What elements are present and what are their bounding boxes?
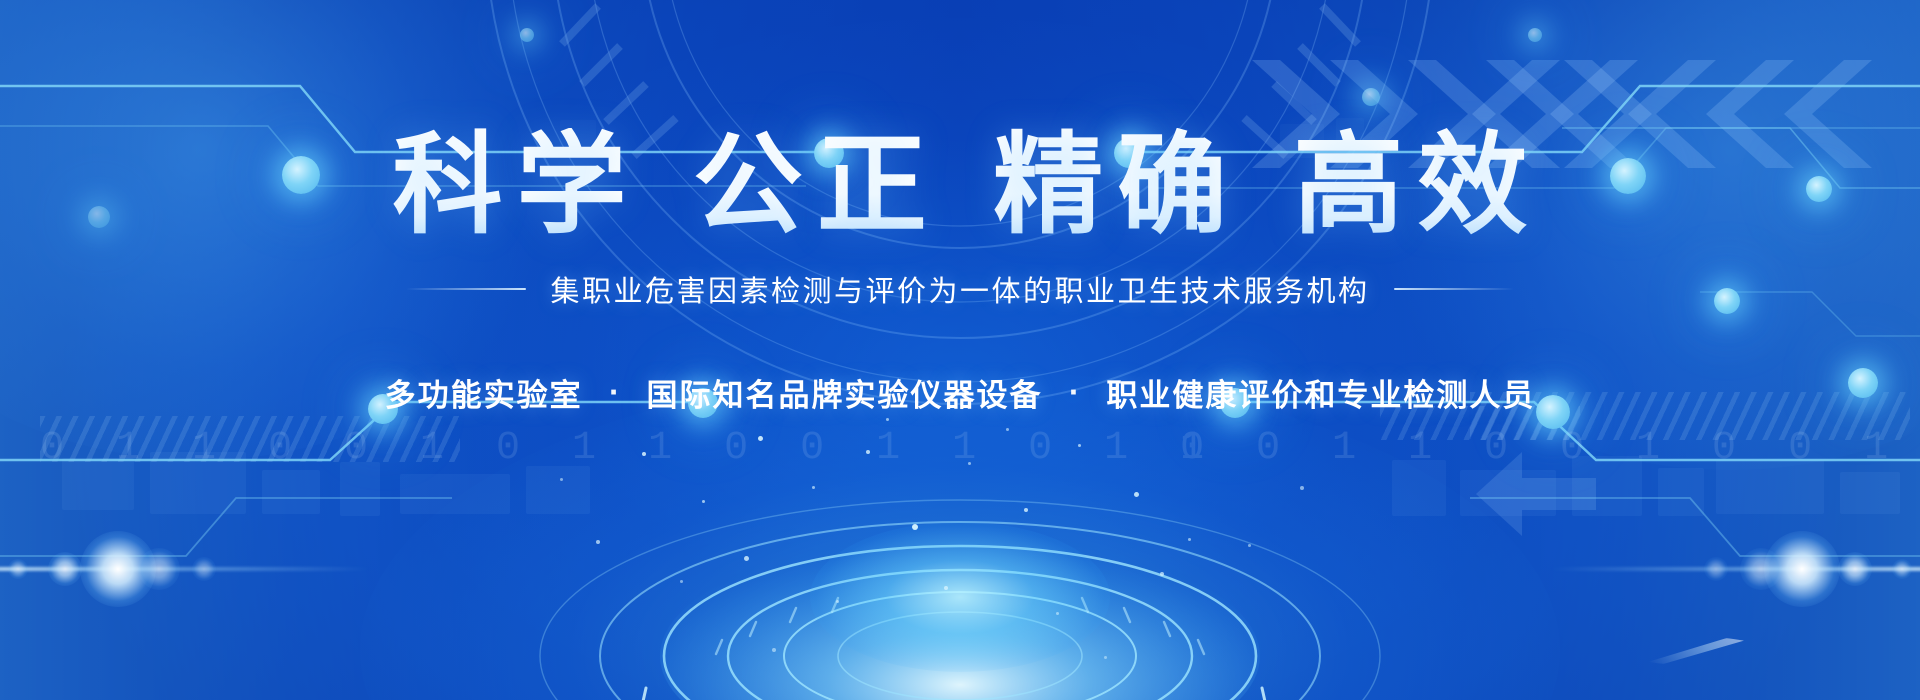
tagline-item-2: 国际知名品牌实验仪器设备 — [647, 370, 1043, 415]
radar-core-glow — [810, 522, 1110, 672]
divider-right — [1394, 288, 1514, 290]
tagline-item-1: 多功能实验室 — [385, 370, 583, 415]
banner-subtitle-row: 集职业危害因素检测与评价为一体的职业卫生技术服务机构 — [0, 268, 1920, 310]
ghost-row-one: 0 1 1 0 0 1 0 1 1 0 0 1 1 0 1 0 0 1 1 0 — [40, 426, 1522, 471]
hero-banner: 0 1 1 0 0 1 0 1 1 0 0 1 1 0 1 0 0 1 1 0 … — [0, 0, 1920, 700]
banner-headline: 科学 公正 精确 高效 — [0, 128, 1920, 242]
ghost-numerals-band: 0 1 1 0 0 1 0 1 1 0 0 1 1 0 1 0 0 1 1 0 … — [0, 420, 1920, 550]
banner-content: 科学 公正 精确 高效 集职业危害因素检测与评价为一体的职业卫生技术服务机构 多… — [0, 0, 1920, 415]
banner-taglines: 多功能实验室 · 国际知名品牌实验仪器设备 · 职业健康评价和专业检测人员 — [0, 370, 1920, 415]
divider-left — [406, 288, 526, 290]
hatch-stripes-left — [40, 416, 460, 462]
tagline-separator-1: · — [583, 378, 647, 408]
arrow-left-icon — [1476, 446, 1596, 542]
tagline-item-3: 职业健康评价和专业检测人员 — [1106, 370, 1535, 415]
lens-flare-left — [0, 526, 330, 612]
banner-subtitle: 集职业危害因素检测与评价为一体的职业卫生技术服务机构 — [550, 268, 1369, 310]
lens-flare-right — [1590, 526, 1920, 612]
glow-bottom — [360, 370, 1560, 700]
radar-rings-graphic — [470, 388, 1450, 700]
tagline-separator-2: · — [1043, 378, 1107, 408]
ghost-row-two: 1 0 1 1 0 0 1 0 0 1 1 0 1 0 1 1 0 0 1 0 — [1180, 426, 1920, 471]
comet-streak-icon — [1648, 638, 1744, 664]
